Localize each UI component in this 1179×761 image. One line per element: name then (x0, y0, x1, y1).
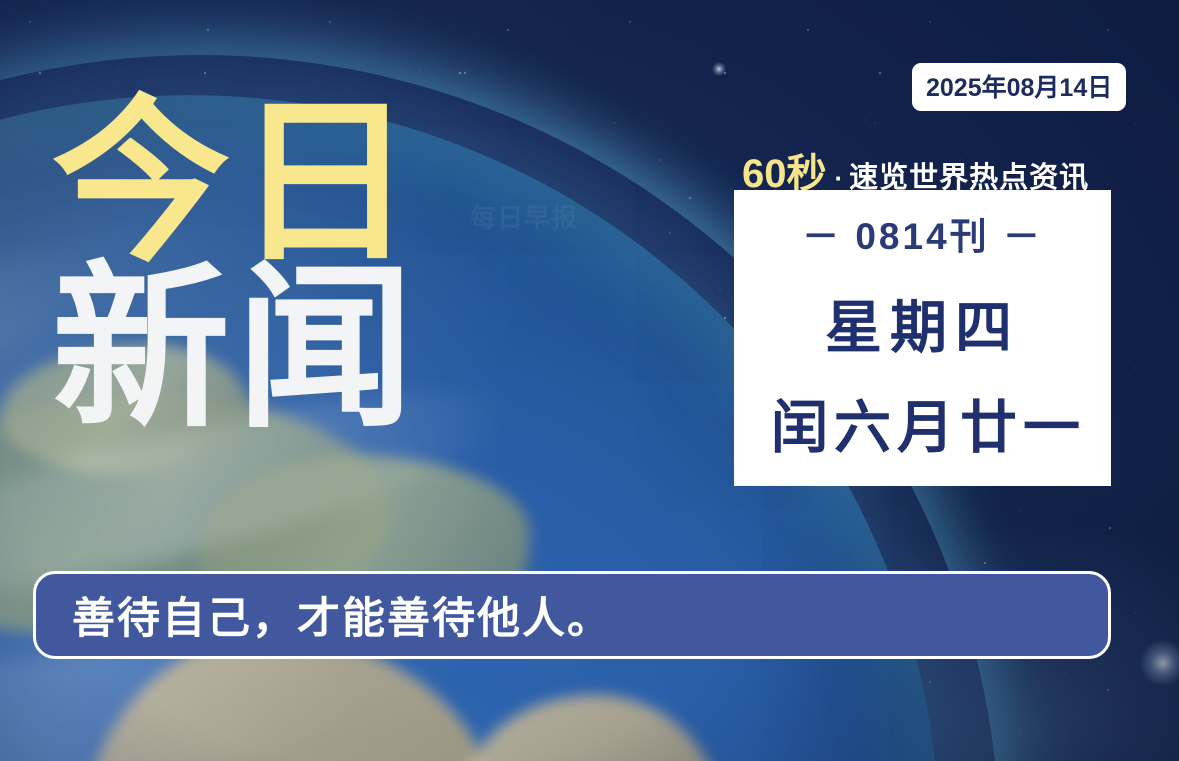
quote-text: 善待自己，才能善待他人。 (72, 584, 612, 646)
issue-info-card: － 0814刊 － 星期四 闰六月廿一 (734, 190, 1111, 486)
page-title: 今日 新闻 (52, 96, 482, 437)
date-badge: 2025年08月14日 (912, 63, 1126, 111)
lunar-date-label: 闰六月廿一 (771, 382, 1086, 464)
issue-number: － 0814刊 － (802, 206, 1043, 260)
news-poster: 每日早报 今日 新闻 2025年08月14日 60秒 · 速览世界热点资讯 － … (0, 0, 1179, 761)
quote-bar: 善待自己，才能善待他人。 (33, 571, 1111, 659)
bright-star-glow (1140, 640, 1179, 686)
title-line-news: 新闻 (52, 262, 482, 436)
watermark: 每日早报 (470, 198, 578, 235)
bright-star-glow (712, 62, 726, 76)
weekday-label: 星期四 (825, 282, 1020, 364)
title-line-today: 今日 (52, 96, 482, 270)
